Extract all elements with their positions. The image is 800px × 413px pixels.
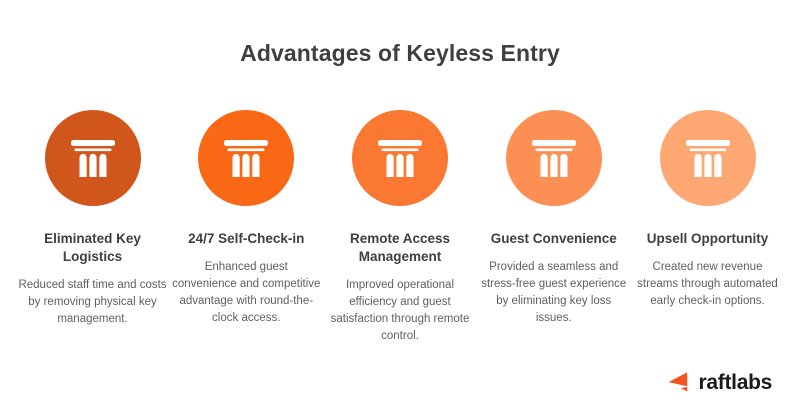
column-pillar-icon: [218, 130, 274, 186]
raftlabs-arrow-logo-icon: [666, 371, 692, 393]
card-title: 24/7 Self-Check-in: [188, 230, 304, 248]
page-title: Advantages of Keyless Entry: [0, 40, 800, 67]
advantage-card: 24/7 Self-Check-in Enhanced guest conven…: [170, 110, 323, 327]
card-description: Improved operational efficiency and gues…: [325, 277, 475, 345]
advantage-cards-row: Eliminated Key Logistics Reduced staff t…: [16, 110, 784, 345]
card-description: Provided a seamless and stress-free gues…: [479, 259, 629, 327]
advantage-card: Remote Access Management Improved operat…: [324, 110, 477, 345]
icon-circle: [506, 110, 602, 206]
card-title: Guest Convenience: [491, 230, 617, 248]
icon-circle: [45, 110, 141, 206]
advantage-card: Guest Convenience Provided a seamless an…: [477, 110, 630, 327]
column-pillar-icon: [680, 130, 736, 186]
card-title: Upsell Opportunity: [647, 230, 769, 248]
card-title: Eliminated Key Logistics: [18, 230, 168, 266]
icon-circle: [352, 110, 448, 206]
icon-circle: [198, 110, 294, 206]
column-pillar-icon: [372, 130, 428, 186]
card-description: Reduced staff time and costs by removing…: [18, 277, 168, 328]
brand-name: raftlabs: [699, 372, 772, 393]
column-pillar-icon: [65, 130, 121, 186]
advantage-card: Upsell Opportunity Created new revenue s…: [631, 110, 784, 310]
infographic-canvas: Advantages of Keyless Entry Eliminated K…: [0, 0, 800, 413]
column-pillar-icon: [526, 130, 582, 186]
brand-logo: raftlabs: [666, 371, 772, 393]
card-description: Enhanced guest convenience and competiti…: [171, 259, 321, 327]
card-title: Remote Access Management: [325, 230, 475, 266]
card-description: Created new revenue streams through auto…: [633, 259, 783, 310]
icon-circle: [660, 110, 756, 206]
advantage-card: Eliminated Key Logistics Reduced staff t…: [16, 110, 169, 328]
